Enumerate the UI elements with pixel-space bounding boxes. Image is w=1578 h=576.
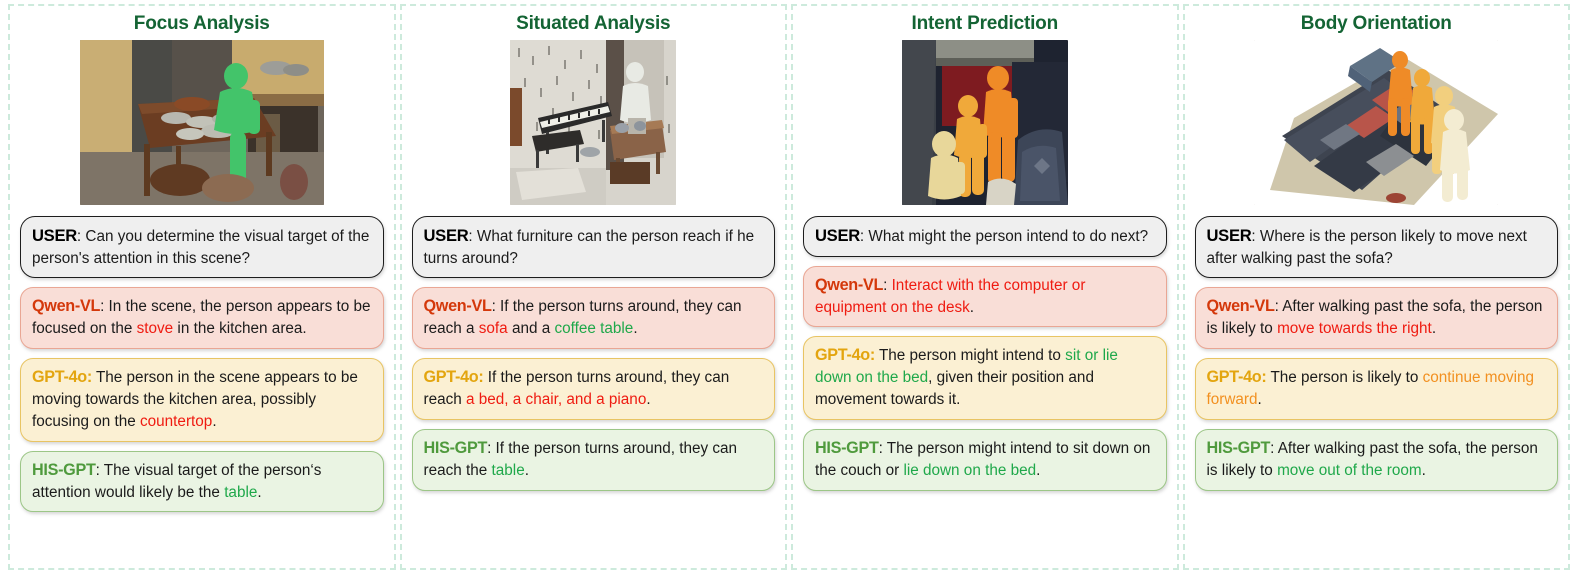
answer-text: .: [1036, 462, 1040, 479]
bubble-qwen-vl: Qwen-VL: If the person turns around, the…: [412, 287, 776, 349]
column-intent-prediction: Intent Prediction: [791, 4, 1179, 570]
speaker-label: GPT-4o:: [424, 368, 484, 386]
answer-text: : What might the person intend to do nex…: [860, 228, 1148, 245]
answer-text: .: [1258, 391, 1262, 408]
speaker-label: HIS-GPT: [32, 461, 96, 479]
bubble-his-gpt: HIS-GPT: If the person turns around, the…: [412, 429, 776, 491]
turn-text: : What might the person intend to do nex…: [860, 228, 1148, 245]
highlighted-text: coffee table: [554, 320, 633, 337]
scene-image-kitchen-table: [80, 40, 324, 205]
speaker-label: Qwen-VL: [1207, 297, 1275, 315]
speaker-label: Qwen-VL: [32, 297, 100, 315]
answer-text: in the kitchen area.: [173, 320, 307, 337]
scene-image-sofa-walkpast: [1254, 40, 1498, 205]
bubble-qwen-vl: Qwen-VL: Interact with the computer or e…: [803, 266, 1167, 328]
highlighted-text: stove: [137, 320, 174, 337]
bubble-user: USER: Where is the person likely to move…: [1195, 216, 1559, 278]
speaker-label: Qwen-VL: [815, 276, 883, 294]
speaker-label: USER: [32, 226, 77, 245]
speaker-label: USER: [815, 226, 860, 245]
bubble-user: USER: Can you determine the visual targe…: [20, 216, 384, 278]
column-title: Body Orientation: [1301, 13, 1452, 35]
scene-image-dark-room-figures: [902, 40, 1068, 205]
answer-text: The person might intend to: [875, 347, 1065, 364]
column-focus-analysis: Focus Analysis: [8, 4, 396, 570]
speaker-label: HIS-GPT: [1207, 439, 1271, 457]
speaker-label: HIS-GPT: [424, 439, 488, 457]
highlighted-text: table: [224, 484, 257, 501]
answer-text: .: [1422, 462, 1426, 479]
bubble-gpt-4o: GPT-4o: The person is likely to continue…: [1195, 358, 1559, 420]
bubble-gpt-4o: GPT-4o: The person in the scene appears …: [20, 358, 384, 441]
answer-text: : Where is the person likely to move nex…: [1207, 228, 1527, 267]
answer-text: .: [970, 299, 974, 316]
scene-image-piano-room: [510, 40, 676, 205]
answer-text: and a: [508, 320, 555, 337]
bubble-gpt-4o: GPT-4o: If the person turns around, they…: [412, 358, 776, 420]
answer-text: .: [257, 484, 261, 501]
comparison-figure: Focus Analysis: [0, 0, 1578, 576]
answer-text: .: [633, 320, 637, 337]
bubble-gpt-4o: GPT-4o: The person might intend to sit o…: [803, 336, 1167, 419]
dialogue-list: USER: What furniture can the person reac…: [412, 216, 776, 562]
dialogue-list: USER: Can you determine the visual targe…: [20, 216, 384, 562]
answer-text: .: [525, 462, 529, 479]
dialogue-list: USER: Where is the person likely to move…: [1195, 216, 1559, 562]
turn-text: : What furniture can the person reach if…: [424, 228, 755, 267]
highlighted-text: lie down on the bed: [903, 462, 1036, 479]
column-situated-analysis: Situated Analysis: [400, 4, 788, 570]
answer-text: .: [212, 413, 216, 430]
bubble-user: USER: What might the person intend to do…: [803, 216, 1167, 257]
column-title: Focus Analysis: [134, 13, 270, 35]
speaker-label: Qwen-VL: [424, 297, 492, 315]
answer-text: .: [1432, 320, 1436, 337]
answer-text: :: [883, 277, 892, 294]
speaker-label: GPT-4o:: [1207, 368, 1267, 386]
answer-text: The person is likely to: [1266, 369, 1422, 386]
bubble-his-gpt: HIS-GPT: The person might intend to sit …: [803, 429, 1167, 491]
answer-text: .: [646, 391, 650, 408]
highlighted-text: table: [492, 462, 525, 479]
highlighted-text: sofa: [479, 320, 508, 337]
speaker-label: USER: [424, 226, 469, 245]
answer-text: : What furniture can the person reach if…: [424, 228, 755, 267]
dialogue-list: USER: What might the person intend to do…: [803, 216, 1167, 562]
column-title: Intent Prediction: [912, 13, 1059, 35]
highlighted-text: countertop: [140, 413, 212, 430]
turn-text: : Can you determine the visual target of…: [32, 228, 369, 267]
highlighted-text: move towards the right: [1277, 320, 1432, 337]
bubble-qwen-vl: Qwen-VL: After walking past the sofa, th…: [1195, 287, 1559, 349]
column-title: Situated Analysis: [516, 13, 670, 35]
speaker-label: HIS-GPT: [815, 439, 879, 457]
speaker-label: USER: [1207, 226, 1252, 245]
highlighted-text: move out of the room: [1277, 462, 1422, 479]
bubble-qwen-vl: Qwen-VL: In the scene, the person appear…: [20, 287, 384, 349]
speaker-label: GPT-4o:: [815, 346, 875, 364]
bubble-his-gpt: HIS-GPT: After walking past the sofa, th…: [1195, 429, 1559, 491]
answer-text: : Can you determine the visual target of…: [32, 228, 369, 267]
highlighted-text: a bed, a chair, and a piano: [466, 391, 646, 408]
speaker-label: GPT-4o:: [32, 368, 92, 386]
bubble-his-gpt: HIS-GPT: The visual target of the person…: [20, 451, 384, 513]
column-body-orientation: Body Orientation: [1183, 4, 1571, 570]
bubble-user: USER: What furniture can the person reac…: [412, 216, 776, 278]
turn-text: : Where is the person likely to move nex…: [1207, 228, 1527, 267]
